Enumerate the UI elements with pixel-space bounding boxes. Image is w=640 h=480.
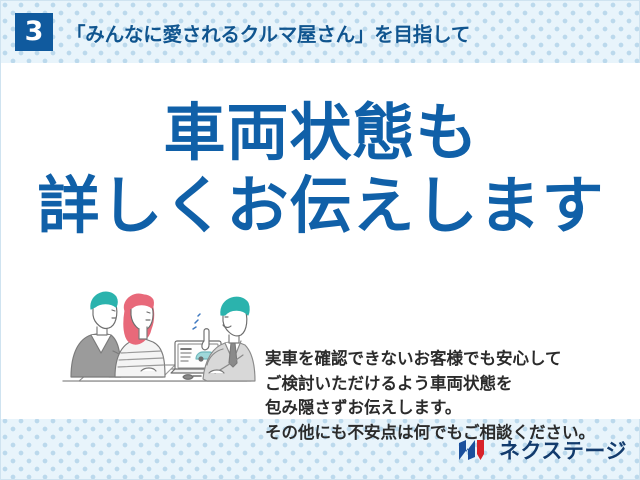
nexstage-logo: ネクステージ	[458, 435, 627, 465]
promotional-banner: 3 「みんなに愛されるクルマ屋さん」を目指して 車両状態も 詳しくお伝えします	[0, 0, 640, 480]
headline-line-2: 詳しくお伝えします	[1, 169, 640, 243]
headline: 車両状態も 詳しくお伝えします	[1, 97, 640, 243]
body-line-3: 包み隠さずお伝えします。	[265, 396, 625, 421]
step-number-badge: 3	[15, 13, 53, 51]
lower-content-row: 実車を確認できないお客様でも安心して ご検討いただけるよう車両状態を 包み隠さず…	[1, 275, 640, 405]
consultation-illustration-svg	[57, 277, 257, 395]
banner-footer: ネクステージ	[1, 419, 640, 479]
consultation-illustration	[57, 277, 257, 395]
body-line-1: 実車を確認できないお客様でも安心して	[265, 347, 625, 372]
body-line-2: ご検討いただけるよう車両状態を	[265, 372, 625, 397]
header-title: 「みんなに愛されるクルマ屋さん」を目指して	[66, 18, 470, 47]
nexstage-logo-text: ネクステージ	[499, 435, 627, 465]
banner-header: 3 「みんなに愛されるクルマ屋さん」を目指して	[1, 1, 640, 63]
headline-line-1: 車両状態も	[1, 97, 640, 169]
content-panel: 車両状態も 詳しくお伝えします	[1, 63, 640, 419]
nexstage-n-logo-icon	[458, 438, 492, 462]
